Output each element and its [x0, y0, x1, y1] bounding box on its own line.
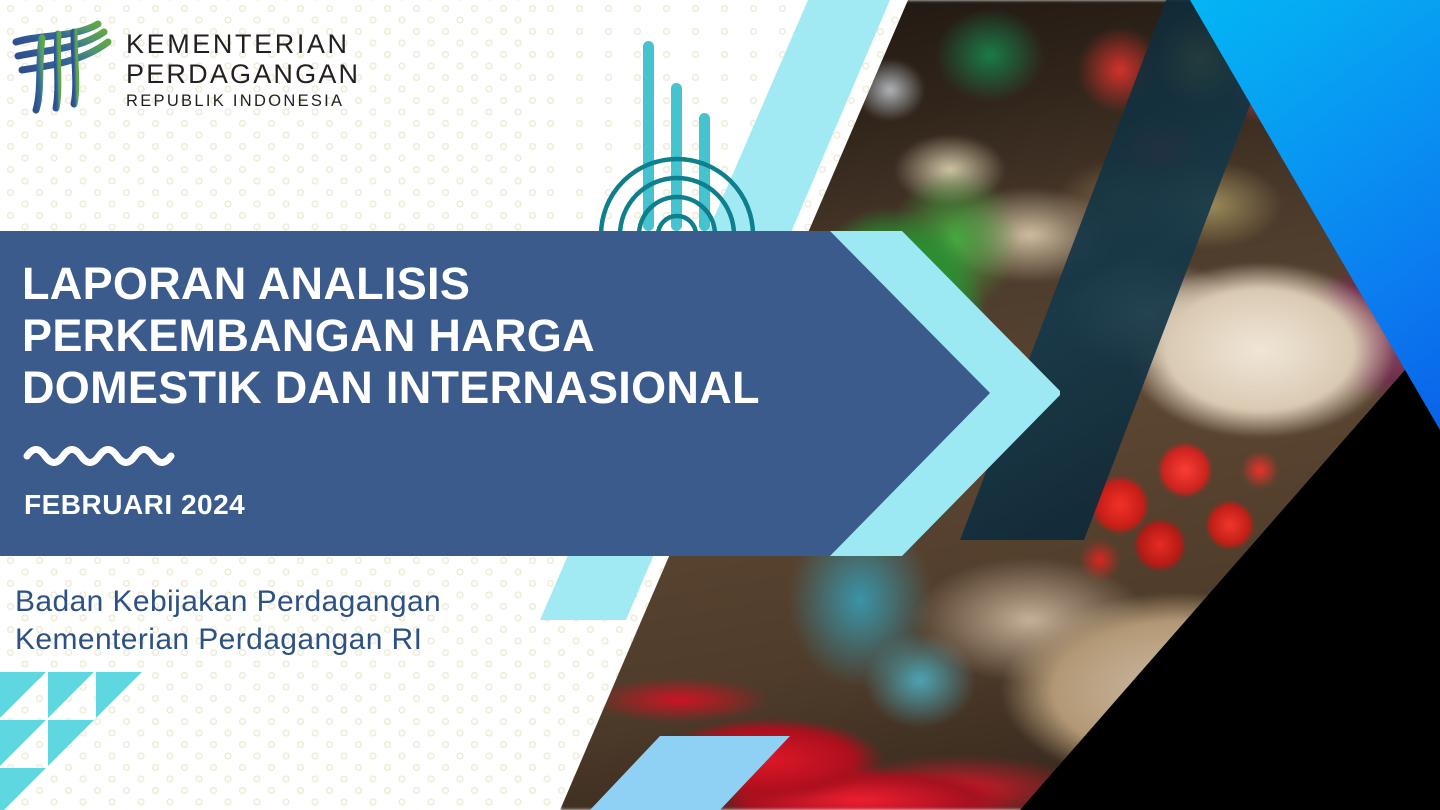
- logo-line-3: REPUBLIK INDONESIA: [126, 93, 360, 110]
- triangle-shape: [48, 720, 94, 766]
- title-line-1: LAPORAN ANALISIS: [22, 258, 902, 310]
- title-line-3: DOMESTIK DAN INTERNASIONAL: [22, 362, 902, 414]
- wavy-line-divider-icon: [22, 438, 192, 468]
- triangle-shape: [48, 672, 94, 718]
- logo-line-1: KEMENTERIAN: [126, 31, 360, 58]
- footer-bar: www bkperdag.kemendag.go.id @BKPerdag Po…: [0, 770, 700, 810]
- triangle-shape: [0, 720, 46, 766]
- logo-line-2: PERDAGANGAN: [126, 61, 360, 88]
- organization-subtitle: Badan Kebijakan Perdagangan Kementerian …: [15, 583, 441, 659]
- teal-bar-arc-graphic: [595, 35, 765, 250]
- report-period: FEBRUARI 2024: [24, 489, 245, 521]
- report-cover-slide: KEMENTERIAN PERDAGANGAN REPUBLIK INDONES…: [0, 0, 1440, 810]
- triangle-shape: [96, 672, 142, 718]
- page-title: LAPORAN ANALISIS PERKEMBANGAN HARGA DOME…: [22, 258, 902, 414]
- logo-text-block: KEMENTERIAN PERDAGANGAN REPUBLIK INDONES…: [126, 31, 360, 110]
- subtitle-line-1: Badan Kebijakan Perdagangan: [15, 583, 441, 621]
- kemendag-woven-logo: [12, 16, 120, 116]
- triangle-shape: [0, 672, 46, 718]
- title-line-2: PERKEMBANGAN HARGA: [22, 310, 902, 362]
- subtitle-line-2: Kementerian Perdagangan RI: [15, 621, 441, 659]
